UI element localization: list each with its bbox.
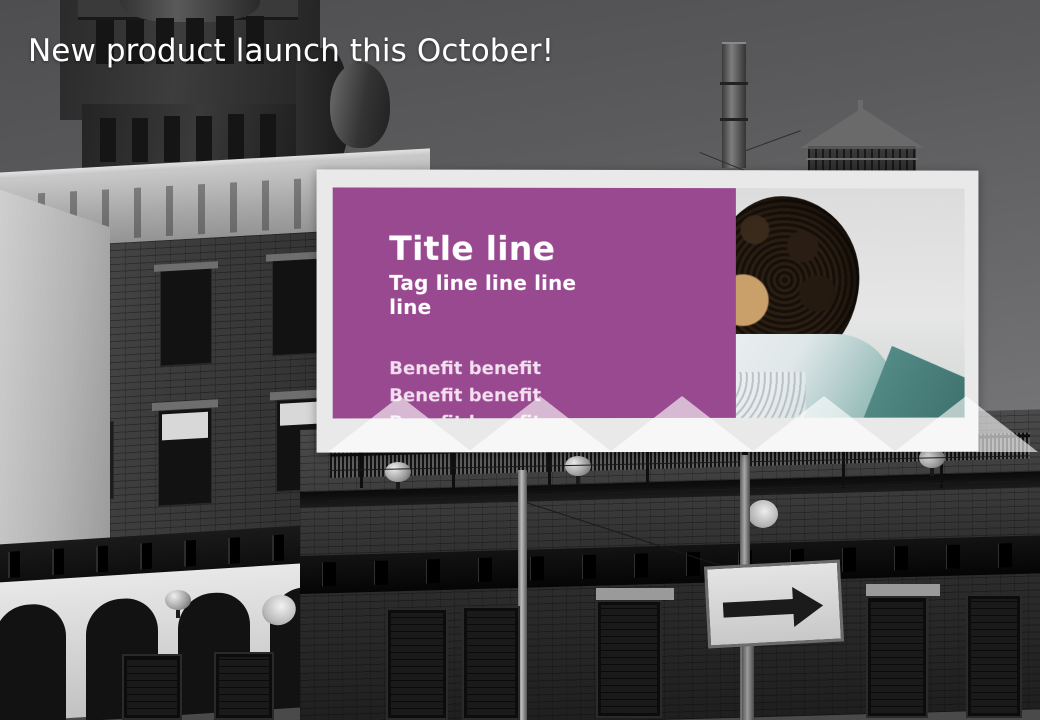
window-sill <box>866 584 940 596</box>
tower-window <box>164 116 180 162</box>
billboard-person-photo <box>736 188 965 418</box>
benefit-item: Benefit benefit <box>389 409 623 418</box>
window <box>214 652 274 720</box>
water-tower-roof <box>800 108 924 148</box>
photo-lace-texture <box>736 372 806 418</box>
billboard-mockup[interactable]: Title line Tag line line line line Benef… <box>317 169 979 452</box>
smokestack <box>722 42 746 168</box>
billboard-purple-panel: Title line Tag line line line line Benef… <box>333 187 736 418</box>
tower-window <box>100 118 116 162</box>
lamp-globe <box>385 462 411 482</box>
one-way-arrow-sign <box>704 559 844 648</box>
tower-rounded-bay <box>330 62 390 148</box>
window <box>596 600 662 718</box>
billboard-inner: Title line Tag line line line line Benef… <box>333 187 965 418</box>
roof-dish-icon <box>748 500 778 528</box>
billboard-title: Title line <box>389 232 623 267</box>
tower-window <box>228 114 244 162</box>
smokestack-band <box>720 118 748 121</box>
smokestack-band <box>720 82 748 85</box>
sign-post <box>742 640 754 720</box>
tower-window <box>196 116 212 162</box>
benefit-item: Benefit benefit <box>389 382 623 410</box>
arrow-shaft <box>723 599 798 618</box>
window <box>122 654 182 720</box>
page-headline: New product launch this October! <box>28 33 554 70</box>
window-sill <box>596 588 674 600</box>
window <box>386 608 448 720</box>
water-tower-hoop <box>806 158 918 160</box>
window <box>462 606 520 720</box>
benefit-item: Benefit benefit <box>389 355 623 383</box>
arrow-head-icon <box>792 585 824 627</box>
billboard-text-block: Title line Tag line line line line Benef… <box>389 232 623 419</box>
lamp-globe <box>165 590 191 610</box>
window <box>966 594 1022 718</box>
window <box>866 596 928 718</box>
billboard-benefit-list: Benefit benefit Benefit benefit Benefit … <box>389 355 623 419</box>
lamp-globe <box>565 456 591 476</box>
pale-stucco-wall <box>0 179 110 586</box>
tower-window <box>260 114 276 162</box>
tower-window <box>132 118 148 162</box>
billboard-tagline: Tag line line line line <box>389 270 623 318</box>
